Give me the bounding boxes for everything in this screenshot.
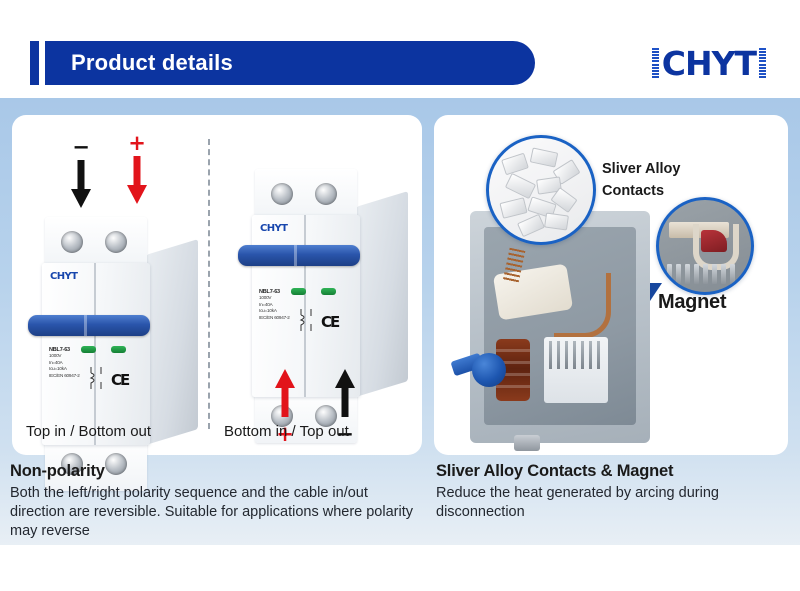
magnet-label: Magnet	[658, 291, 726, 314]
magnet-callout	[656, 197, 754, 295]
caption-body: Both the left/right polarity sequence an…	[10, 484, 425, 541]
breaker-toggle-lever[interactable]	[238, 245, 360, 266]
indicator-led-green	[111, 346, 126, 353]
cutaway-housing	[470, 211, 650, 443]
non-polarity-panel: − + CHYT	[12, 115, 422, 455]
arrow-negative-down: −	[66, 137, 96, 215]
up-arrow-red-icon	[270, 367, 300, 419]
wiring-schematic-icon	[87, 365, 107, 391]
lever-seam	[294, 245, 297, 266]
indicator-led-green	[321, 288, 336, 295]
indicator-led-green	[81, 346, 96, 353]
breaker-toggle-lever[interactable]	[28, 315, 150, 336]
header-accent-bar	[30, 41, 39, 85]
blue-toggle-handle[interactable]	[452, 349, 506, 389]
panel-divider	[208, 139, 210, 429]
ce-mark-icon: CE	[321, 313, 338, 331]
magnet-pins	[667, 262, 743, 284]
terminal-screw	[61, 231, 83, 253]
logo-left-bars-icon	[652, 48, 659, 78]
breaker-caption-left: Top in / Bottom out	[26, 423, 151, 440]
logo-right-bars-icon	[759, 48, 766, 78]
toggle-knob	[472, 353, 506, 387]
down-arrow-black-icon	[66, 158, 96, 210]
lever-seam	[84, 315, 87, 336]
indicator-led-green	[291, 288, 306, 295]
breaker-rating-label: NBL7-63 1000V In=40A Icu=10kA IEC/EN 609…	[259, 289, 351, 355]
breaker-front-face: CHYT NBL7-63 1000V In=40A Icu=10kA IEC/E…	[42, 263, 150, 445]
breaker-cutaway-illustration	[470, 211, 650, 443]
ce-mark-icon: CE	[111, 371, 128, 389]
product-details-slide: Product details CHYT − +	[0, 0, 800, 591]
copper-conductor	[554, 273, 611, 338]
caption-title: Non-polarity	[10, 462, 425, 481]
page-title: Product details	[71, 50, 233, 76]
breaker-top-terminals	[45, 217, 147, 269]
breaker-brand-label: CHYT	[260, 223, 287, 234]
silver-alloy-contacts-label: Sliver Alloy Contacts	[602, 159, 680, 203]
brand-logo: CHYT	[652, 42, 766, 84]
terminal-screw	[315, 183, 337, 205]
page-header: Product details CHYT	[0, 0, 800, 98]
breaker-side-body	[146, 239, 198, 445]
logo-wordmark: CHYT	[662, 47, 756, 80]
breaker-brand-label: CHYT	[50, 271, 77, 282]
caption-title: Sliver Alloy Contacts & Magnet	[436, 462, 786, 481]
terminal-screw	[271, 183, 293, 205]
down-arrow-red-icon	[122, 154, 152, 206]
breaker-top-terminals	[255, 169, 357, 221]
arc-chute	[544, 337, 608, 403]
wiring-schematic-icon	[297, 307, 317, 333]
caption-body: Reduce the heat generated by arcing duri…	[436, 484, 786, 522]
caption-contacts-magnet: Sliver Alloy Contacts & Magnet Reduce th…	[436, 462, 786, 522]
breaker-side-body	[356, 191, 408, 397]
din-rail-screw	[514, 435, 540, 451]
breaker-rating-label: NBL7-63 1000V In=40A Icu=10kA IEC/EN 609…	[49, 347, 141, 413]
terminal-screw	[105, 231, 127, 253]
up-arrow-black-icon	[330, 367, 360, 419]
caption-non-polarity: Non-polarity Both the left/right polarit…	[10, 462, 425, 541]
breaker-caption-right: Bottom in / Top out	[224, 423, 349, 440]
silver-alloy-contacts-callout	[486, 135, 596, 245]
cutaway-panel: Sliver Alloy Contacts Magnet	[434, 115, 788, 455]
header-banner: Product details	[45, 41, 535, 85]
arrow-positive-down: +	[122, 133, 152, 211]
